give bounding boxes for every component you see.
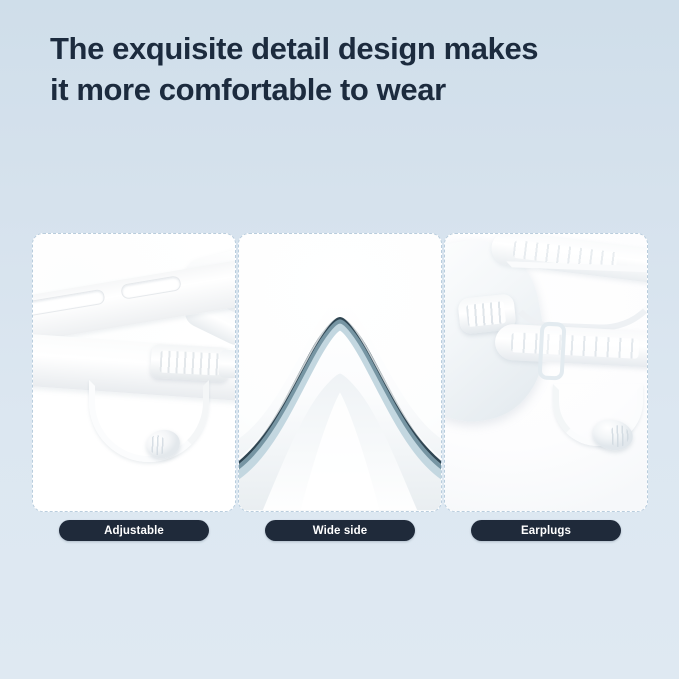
badge-slot: Earplugs <box>444 520 648 541</box>
product-photo-earplugs <box>445 234 647 511</box>
strap-clip <box>218 349 235 378</box>
strap-adjustment-buckle <box>150 344 230 382</box>
feature-panel-wide-side <box>238 233 442 512</box>
product-photo-adjustable <box>33 234 235 511</box>
badge-earplugs: Earplugs <box>471 520 621 541</box>
feature-panel-row <box>32 233 648 512</box>
badge-slot: Adjustable <box>32 520 236 541</box>
badge-adjustable: Adjustable <box>59 520 209 541</box>
product-photo-wide-side <box>239 234 441 511</box>
feature-badge-row: Adjustable Wide side Earplugs <box>32 520 648 541</box>
strap-slider-ring <box>538 321 567 380</box>
product-detail-image: The exquisite detail design makes it mor… <box>0 0 679 679</box>
badge-slot: Wide side <box>238 520 442 541</box>
page-title: The exquisite detail design makes it mor… <box>50 28 650 110</box>
feature-panel-earplugs <box>444 233 648 512</box>
nose-bridge-illustration <box>239 234 441 510</box>
feature-panel-adjustable <box>32 233 236 512</box>
badge-wide-side: Wide side <box>265 520 415 541</box>
